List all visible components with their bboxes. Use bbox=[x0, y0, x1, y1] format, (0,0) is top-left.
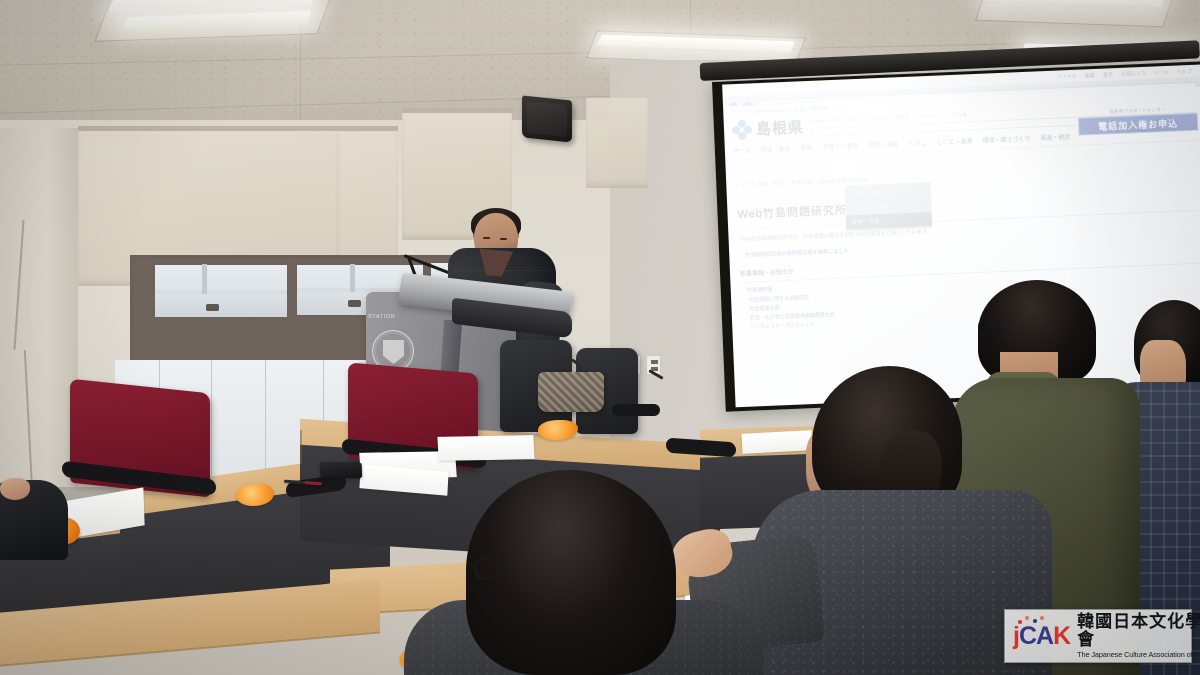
attendee-left-hand bbox=[0, 478, 30, 500]
util-link-chinese[interactable]: 中文 bbox=[833, 118, 842, 124]
menu-item-file[interactable]: ファイル bbox=[1057, 72, 1077, 80]
clover-icon bbox=[732, 119, 753, 140]
nav-item-safety[interactable]: 防災・安全 bbox=[761, 144, 791, 154]
watermark-logo: j C A K 韓國日本文化學會 The Japanese Culture As… bbox=[1004, 609, 1192, 663]
association-name-english: The Japanese Culture Association of Kore… bbox=[1077, 650, 1200, 659]
nav-item-living[interactable]: くらし bbox=[908, 138, 926, 148]
util-link-links[interactable]: リンク集 bbox=[949, 112, 968, 119]
nav-item-education[interactable]: 子育て・教育 bbox=[822, 141, 858, 152]
menu-item-edit[interactable]: 編集 bbox=[1085, 71, 1095, 78]
chair-arm bbox=[612, 404, 660, 416]
util-link-sitemap[interactable]: サイトマップ bbox=[915, 113, 943, 120]
window-post bbox=[350, 264, 355, 292]
association-name-cjk: 韓國日本文化學會 bbox=[1077, 613, 1200, 649]
window-rail bbox=[155, 290, 287, 294]
dots-icon bbox=[1018, 616, 1048, 626]
util-link-fontsize[interactable]: 文字サイズ bbox=[867, 116, 890, 123]
menu-item-view[interactable]: 表示 bbox=[1103, 71, 1113, 78]
window-handle[interactable] bbox=[206, 304, 219, 311]
table-seam bbox=[300, 430, 302, 464]
nav-item-home[interactable]: ホーム bbox=[733, 145, 751, 155]
nav-item-tax[interactable]: 県税 bbox=[800, 143, 812, 152]
window-post bbox=[202, 264, 207, 294]
jcak-wordmark: j C A K bbox=[1013, 624, 1070, 649]
nav-item-statistics[interactable]: 県政・統計 bbox=[1040, 132, 1070, 142]
wordmark-a: A bbox=[1036, 624, 1053, 649]
projected-webpage: ファイル 編集 表示 お気に入り ツール ヘルプ www.pref.shiman… bbox=[722, 64, 1200, 407]
smartphone[interactable] bbox=[320, 462, 363, 479]
wall-speaker-icon bbox=[522, 95, 572, 142]
roller-blind-far[interactable] bbox=[586, 98, 648, 188]
blind-rail bbox=[78, 126, 398, 131]
shimane-logo[interactable]: 島根県 bbox=[732, 116, 805, 140]
menu-item-help[interactable]: ヘルプ bbox=[1177, 67, 1192, 75]
nav-item-environment[interactable]: 環境・郷土づくり bbox=[982, 134, 1030, 145]
lectern-brand-text: STATION bbox=[368, 314, 395, 320]
webpage-body: トップ > организация > 竹島 > 研究所 島根県 English… bbox=[723, 86, 1200, 407]
nav-item-welfare[interactable]: 医療・福祉 bbox=[868, 139, 898, 149]
projection-screen: ファイル 編集 表示 お気に入り ツール ヘルプ www.pref.shiman… bbox=[712, 61, 1200, 411]
wordmark-c: C bbox=[1019, 624, 1036, 649]
nav-dropdown-menu: 子ども・教育 少子化・子育て 学校・学習 bbox=[844, 182, 932, 232]
photo-scene: ファイル 編集 表示 お気に入り ツール ヘルプ www.pref.shiman… bbox=[0, 0, 1200, 675]
util-link-bgcolor[interactable]: 背景色 bbox=[895, 115, 909, 122]
blind-rail bbox=[402, 108, 514, 113]
nav-item-industry[interactable]: しごと・産業 bbox=[936, 136, 972, 147]
handbag bbox=[538, 372, 604, 412]
dropdown-item-2-selected[interactable]: 学校・学習 bbox=[846, 212, 933, 230]
site-name: 島根県 bbox=[756, 116, 805, 139]
paper-handout bbox=[742, 430, 813, 454]
menu-item-favorites[interactable]: お気に入り bbox=[1121, 69, 1146, 77]
wordmark-k: K bbox=[1053, 624, 1070, 649]
util-link-english[interactable]: English bbox=[812, 118, 827, 125]
paper-handout bbox=[437, 435, 534, 461]
util-link-korean[interactable]: 한국어 bbox=[848, 117, 861, 124]
window-handle[interactable] bbox=[348, 300, 361, 307]
eyeglasses-icon bbox=[978, 320, 1000, 336]
menu-item-tools[interactable]: ツール bbox=[1154, 68, 1169, 76]
